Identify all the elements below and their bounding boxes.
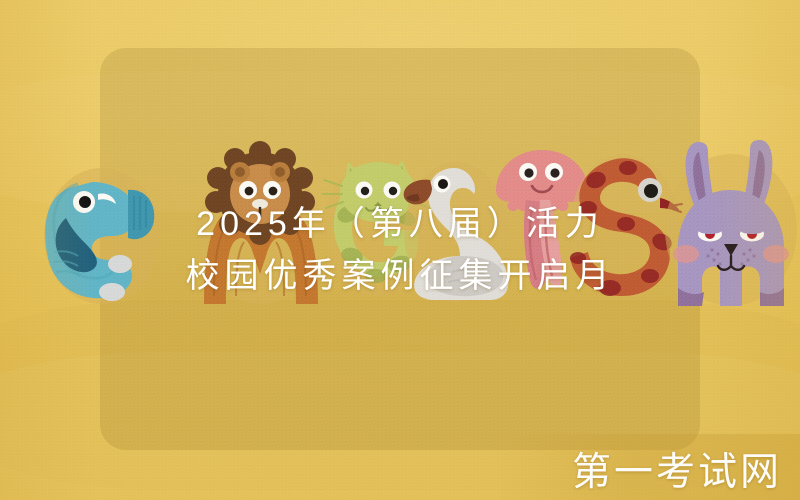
- site-watermark: 第一考试网: [572, 453, 782, 492]
- texture-speckle: [0, 0, 800, 500]
- poster-banner: 2025年（第八届）活力 校园优秀案例征集开启月 第一考试网: [0, 0, 800, 500]
